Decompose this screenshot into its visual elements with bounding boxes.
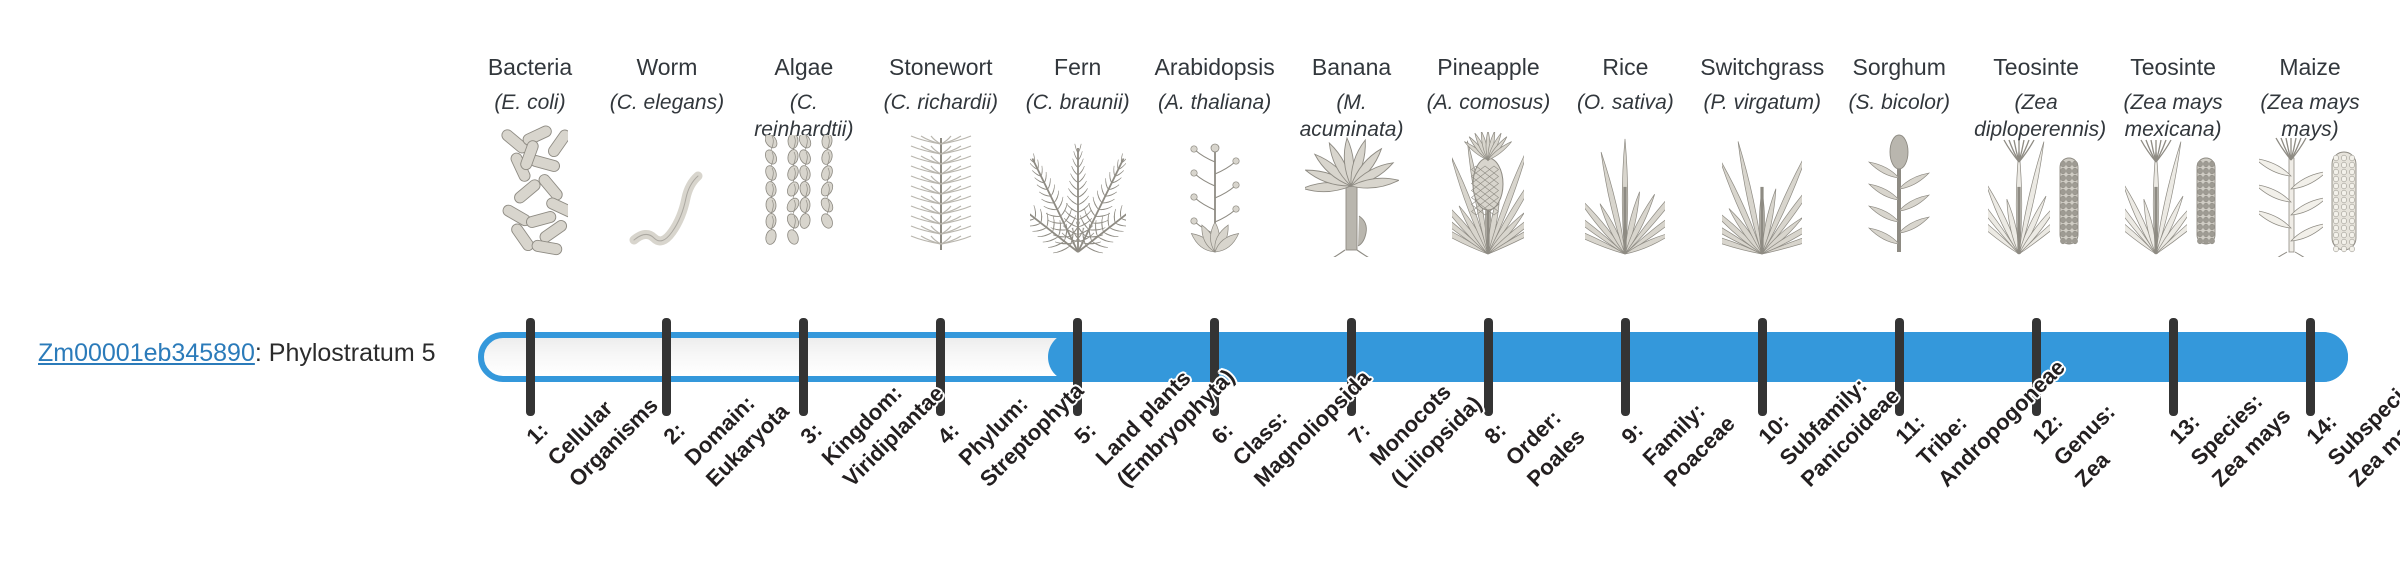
species-common-name: Worm (605, 52, 729, 82)
species-illustration-switchgrass (1700, 162, 1824, 257)
species-scientific-name: (P. virgatum) (1700, 89, 1824, 116)
species-illustration-teosinte (1974, 162, 2098, 257)
species-illustration-rice (1563, 162, 1687, 257)
species-illustration-pineapple (1426, 162, 1550, 257)
species-common-name: Banana (1290, 52, 1414, 82)
species-column-algae-3: Algae(C. reinhardtii) (742, 52, 866, 143)
species-column-teosinte-13: Teosinte(Zea mays mexicana) (2111, 52, 2235, 143)
species-illustration-arabidopsis (1153, 162, 1277, 257)
species-column-maize-14: Maize(Zea mays mays) (2248, 52, 2372, 143)
phylostratum-value: Phylostratum 5 (269, 339, 436, 367)
species-scientific-name: (C. braunii) (1016, 89, 1140, 116)
stratum-tick-13 (2169, 318, 2178, 416)
gene-accession-link[interactable]: Zm00001eb345890 (38, 339, 255, 367)
species-illustration-fern (1016, 162, 1140, 257)
species-common-name: Sorghum (1837, 52, 1961, 82)
stratum-tick-2 (662, 318, 671, 416)
species-column-banana-7: Banana(M. acuminata) (1290, 52, 1414, 143)
stratum-tick-14 (2306, 318, 2315, 416)
gene-phylostratum-label: Zm00001eb345890: Phylostratum 5 (38, 339, 436, 368)
species-common-name: Switchgrass (1700, 52, 1824, 82)
stratum-tick-3 (799, 318, 808, 416)
stratum-tick-10 (1758, 318, 1767, 416)
stratum-label-8: 8:Order:Poales (1478, 380, 1592, 494)
species-illustration-banana (1290, 162, 1414, 257)
species-scientific-name: (A. thaliana) (1153, 89, 1277, 116)
species-column-bacteria-1: Bacteria(E. coli) (468, 52, 592, 116)
species-common-name: Teosinte (1974, 52, 2098, 82)
species-column-pineapple-8: Pineapple(A. comosus) (1426, 52, 1550, 116)
species-scientific-name: (C. elegans) (605, 89, 729, 116)
species-column-fern-5: Fern(C. braunii) (1016, 52, 1140, 116)
stratum-tick-1 (526, 318, 535, 416)
species-common-name: Teosinte (2111, 52, 2235, 82)
species-common-name: Algae (742, 52, 866, 82)
species-common-name: Stonewort (879, 52, 1003, 82)
species-common-name: Bacteria (468, 52, 592, 82)
species-common-name: Pineapple (1426, 52, 1550, 82)
stratum-tick-8 (1484, 318, 1493, 416)
species-illustration-maize (2248, 162, 2372, 257)
species-illustration-algae (742, 162, 866, 257)
species-illustration-stonewort (879, 162, 1003, 257)
species-column-switchgrass-10: Switchgrass(P. virgatum) (1700, 52, 1824, 116)
phylostratigraphy-figure: Zm00001eb345890: Phylostratum 5 Bacteria… (0, 0, 2400, 580)
species-common-name: Fern (1016, 52, 1140, 82)
species-column-worm-2: Worm(C. elegans) (605, 52, 729, 116)
species-common-name: Arabidopsis (1153, 52, 1277, 82)
species-illustration-teosinte (2111, 162, 2235, 257)
species-illustration-worm (605, 162, 729, 257)
species-scientific-name: (O. sativa) (1563, 89, 1687, 116)
species-illustration-bacteria (468, 162, 592, 257)
species-common-name: Maize (2248, 52, 2372, 82)
species-column-rice-9: Rice(O. sativa) (1563, 52, 1687, 116)
species-header-row: Bacteria(E. coli)Worm(C. elegans)Algae(C… (478, 52, 2348, 307)
species-scientific-name: (A. comosus) (1426, 89, 1550, 116)
species-column-sorghum-11: Sorghum(S. bicolor) (1837, 52, 1961, 116)
progress-fill (1048, 332, 2348, 382)
stratum-label-9: 9:Family:Poaceae (1615, 367, 1742, 494)
species-illustration-sorghum (1837, 162, 1961, 257)
species-column-arabidopsis-6: Arabidopsis(A. thaliana) (1153, 52, 1277, 116)
species-scientific-name: (E. coli) (468, 89, 592, 116)
species-scientific-name: (C. richardii) (879, 89, 1003, 116)
species-column-stonewort-4: Stonewort(C. richardii) (879, 52, 1003, 116)
species-common-name: Rice (1563, 52, 1687, 82)
species-column-teosinte-12: Teosinte(Zea diploperennis) (1974, 52, 2098, 143)
species-scientific-name: (S. bicolor) (1837, 89, 1961, 116)
gene-label-separator: : (255, 339, 269, 367)
stratum-tick-9 (1621, 318, 1630, 416)
